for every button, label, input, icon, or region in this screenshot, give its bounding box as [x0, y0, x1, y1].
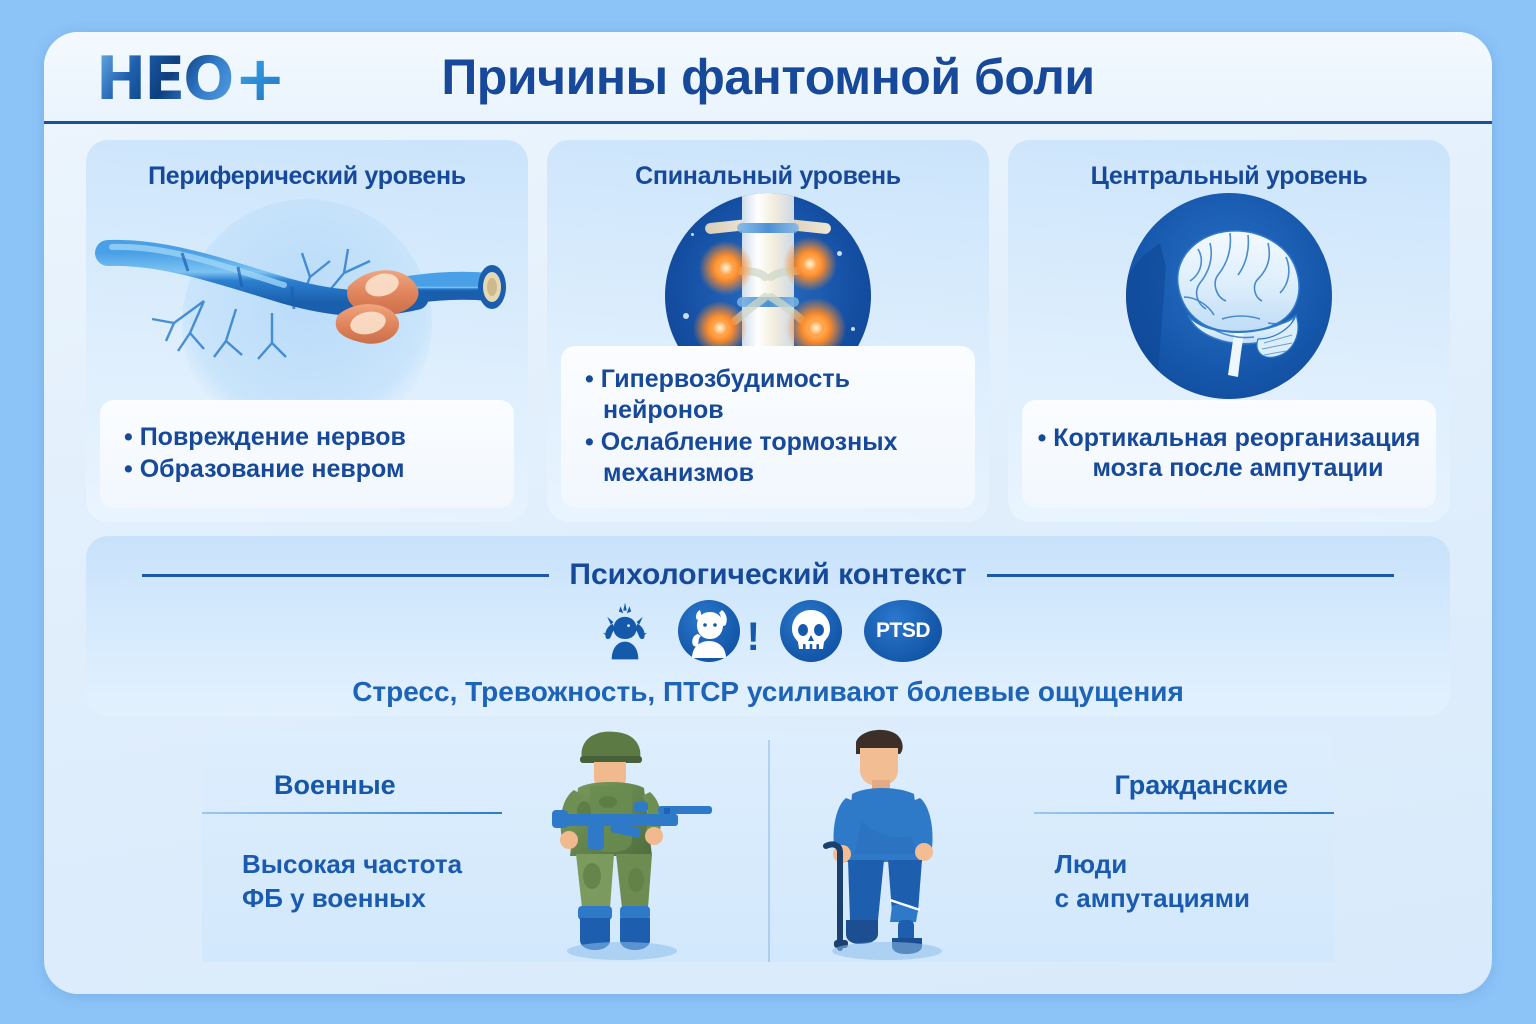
stress-person-glyph [594, 599, 656, 663]
divider-right [987, 574, 1394, 577]
figure-shadow [832, 942, 942, 960]
level-bullet-list: Гипервозбудимость нейронов Ослабление то… [561, 346, 975, 508]
level-card-peripheral: Периферический уровень [86, 140, 528, 522]
psych-icon-row: ! PTSD [86, 600, 1450, 662]
group-text: Высокая частота ФБ у военных [242, 848, 462, 916]
level-card-spinal: Спинальный уровень [547, 140, 989, 522]
civilian-figure [792, 724, 982, 960]
psychological-context-section: Психологический контекст [86, 536, 1450, 716]
page-title: Причины фантомной боли [44, 48, 1492, 106]
ptsd-badge-icon: PTSD [864, 600, 942, 662]
group-text: Люди с ампутациями [1055, 848, 1250, 916]
stress-person-icon [594, 600, 656, 662]
list-item: Гипервозбудимость нейронов [585, 364, 965, 425]
brain-icon [1008, 191, 1450, 377]
level-bullet-list: Повреждение нервов Образование невром [100, 400, 514, 508]
group-military: Военные Высокая частота ФБ у военных [202, 732, 768, 962]
anxiety-person-icon: ! [678, 600, 740, 662]
psych-caption: Стресс, Тревожность, ПТСР усиливают боле… [86, 676, 1450, 708]
damaged-nerve-icon [86, 191, 528, 377]
ptsd-label: PTSD [876, 619, 930, 643]
list-item: Кортикальная реорганизация мозга после а… [1032, 423, 1426, 484]
level-bullet-list: Кортикальная реорганизация мозга после а… [1022, 400, 1436, 508]
group-title: Гражданские [1114, 770, 1288, 801]
divider-left [142, 574, 549, 577]
level-heading: Периферический уровень [86, 140, 528, 191]
exclamation-icon: ! [747, 615, 760, 660]
soldier-illustration [512, 728, 732, 960]
level-heading: Спинальный уровень [547, 140, 989, 191]
group-title: Военные [274, 770, 396, 801]
figure-shadow [567, 942, 677, 960]
psych-heading-row: Психологический контекст [86, 536, 1450, 592]
group-civilian: Гражданские Люди с ампутациями [768, 732, 1334, 962]
anxiety-person-glyph [678, 600, 740, 662]
civilian-illustration [792, 724, 982, 960]
excited-neuron [693, 235, 759, 301]
list-item: Образование невром [124, 454, 504, 485]
group-rule [202, 812, 502, 814]
list-item: Повреждение нервов [124, 422, 504, 453]
excited-neuron [777, 231, 843, 297]
infographic-poster: HEO + Причины фантомной боли Периферичес… [44, 32, 1492, 994]
brain-illustration [1126, 193, 1332, 399]
head-silhouette-circle [1126, 193, 1332, 399]
skull-icon [780, 600, 842, 662]
levels-row: Периферический уровень [86, 140, 1450, 522]
level-card-central: Центральный уровень [1008, 140, 1450, 522]
population-groups-section: Военные Высокая частота ФБ у военных [202, 732, 1334, 962]
soldier-figure [512, 728, 732, 960]
poster-header: HEO + Причины фантомной боли [44, 32, 1492, 124]
nerve-illustration [86, 191, 528, 377]
group-rule [1034, 812, 1334, 814]
section-heading: Психологический контекст [569, 558, 966, 592]
level-heading: Центральный уровень [1008, 140, 1450, 191]
skull-glyph [789, 608, 833, 654]
list-item: Ослабление тормозных механизмов [585, 427, 965, 488]
